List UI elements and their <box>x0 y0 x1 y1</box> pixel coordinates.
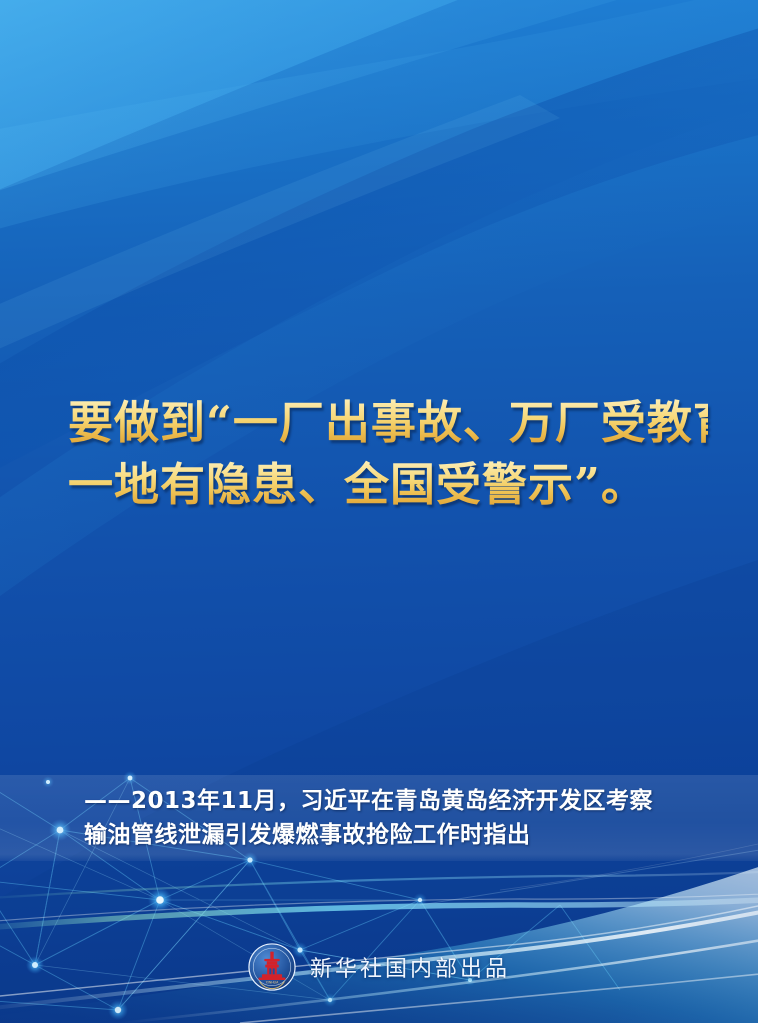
quote-block: 要做到“一厂出事故、万厂受教育， 一地有隐患、全国受警示”。 <box>68 392 708 516</box>
footer-credit: XINHUA 新华社国内部出品 <box>0 938 758 996</box>
attribution-line-2: 输油管线泄漏引发爆燃事故抢险工作时指出 <box>84 818 724 852</box>
attribution-text: ——2013年11月，习近平在青岛黄岛经济开发区考察 输油管线泄漏引发爆燃事故抢… <box>84 784 724 852</box>
attribution-line-1: ——2013年11月，习近平在青岛黄岛经济开发区考察 <box>84 784 724 818</box>
poster-canvas: 要做到“一厂出事故、万厂受教育， 一地有隐患、全国受警示”。 ——2013年11… <box>0 0 758 1023</box>
xinhua-emblem-icon: XINHUA <box>248 943 296 991</box>
svg-text:XINHUA: XINHUA <box>266 980 279 984</box>
footer-label: 新华社国内部出品 <box>310 951 510 983</box>
quote-line-2: 一地有隐患、全国受警示”。 <box>68 454 708 516</box>
quote-line-1: 要做到“一厂出事故、万厂受教育， <box>68 392 708 454</box>
